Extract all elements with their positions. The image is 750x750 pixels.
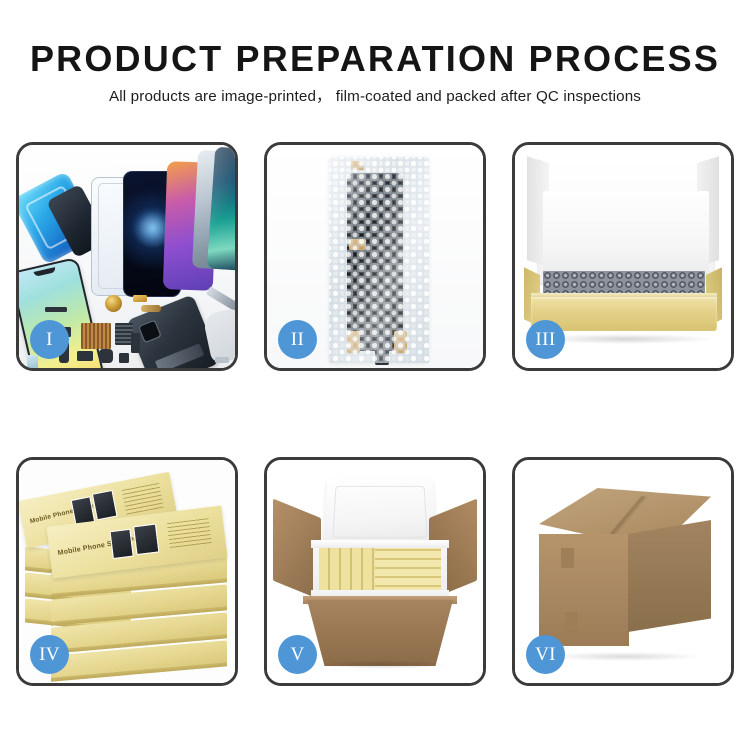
- step-badge-5: V: [278, 635, 317, 674]
- process-step-6: VI: [512, 457, 734, 686]
- process-step-grid: I II: [16, 142, 734, 686]
- drop-shadow: [317, 660, 447, 669]
- sensor-part-icon: [27, 355, 38, 368]
- connector-part-icon: [45, 307, 67, 312]
- foam-lid: [322, 479, 437, 546]
- carton-right-panel: [628, 520, 711, 632]
- step-badge-4: IV: [30, 635, 69, 674]
- flex-cable-icon: [141, 305, 161, 312]
- gold-contact-icon: [133, 295, 147, 302]
- circuit-board-icon: [81, 323, 111, 349]
- process-step-5: V: [264, 457, 486, 686]
- box-spec-lines: [122, 483, 164, 516]
- product-preparation-infographic: PRODUCT PREPARATION PROCESS All products…: [0, 0, 750, 750]
- process-step-4: Mobile Phone Spare Parts Mobile Phone Sp…: [16, 457, 238, 686]
- product-photo-chip: [109, 529, 133, 559]
- step-badge-2: II: [278, 320, 317, 359]
- sim-tray-icon: [119, 353, 129, 363]
- foam-rim: [311, 540, 449, 548]
- process-step-3: III: [512, 142, 734, 371]
- box-spec-lines: [167, 518, 212, 551]
- tape-tab-icon: [565, 612, 578, 632]
- header: PRODUCT PREPARATION PROCESS All products…: [0, 38, 750, 107]
- process-step-2: II: [264, 142, 486, 371]
- carton-front-panel: [307, 600, 453, 666]
- bubble-wrapped-package: [329, 157, 429, 363]
- step-badge-6: VI: [526, 635, 565, 674]
- drop-shadow: [549, 652, 701, 661]
- product-photo-chip: [92, 490, 118, 521]
- step-badge-1: I: [30, 320, 69, 359]
- product-photo-chip: [133, 524, 159, 556]
- carton-left-panel: [539, 534, 629, 646]
- packed-yellow-boxes: [375, 548, 441, 594]
- foam-sheet: [543, 191, 709, 283]
- tape-tab-icon: [561, 548, 574, 568]
- page-subtitle: All products are image-printed， film-coa…: [0, 87, 750, 107]
- plastic-sheen: [329, 157, 429, 363]
- step-badge-3: III: [526, 320, 565, 359]
- page-title: PRODUCT PREPARATION PROCESS: [0, 38, 750, 80]
- speaker-part-icon: [105, 295, 122, 312]
- antenna-part-icon: [131, 333, 140, 353]
- camera-module-icon: [77, 351, 93, 361]
- process-step-1: I: [16, 142, 238, 371]
- vibrator-icon: [99, 349, 113, 363]
- screws-icon: [215, 357, 229, 363]
